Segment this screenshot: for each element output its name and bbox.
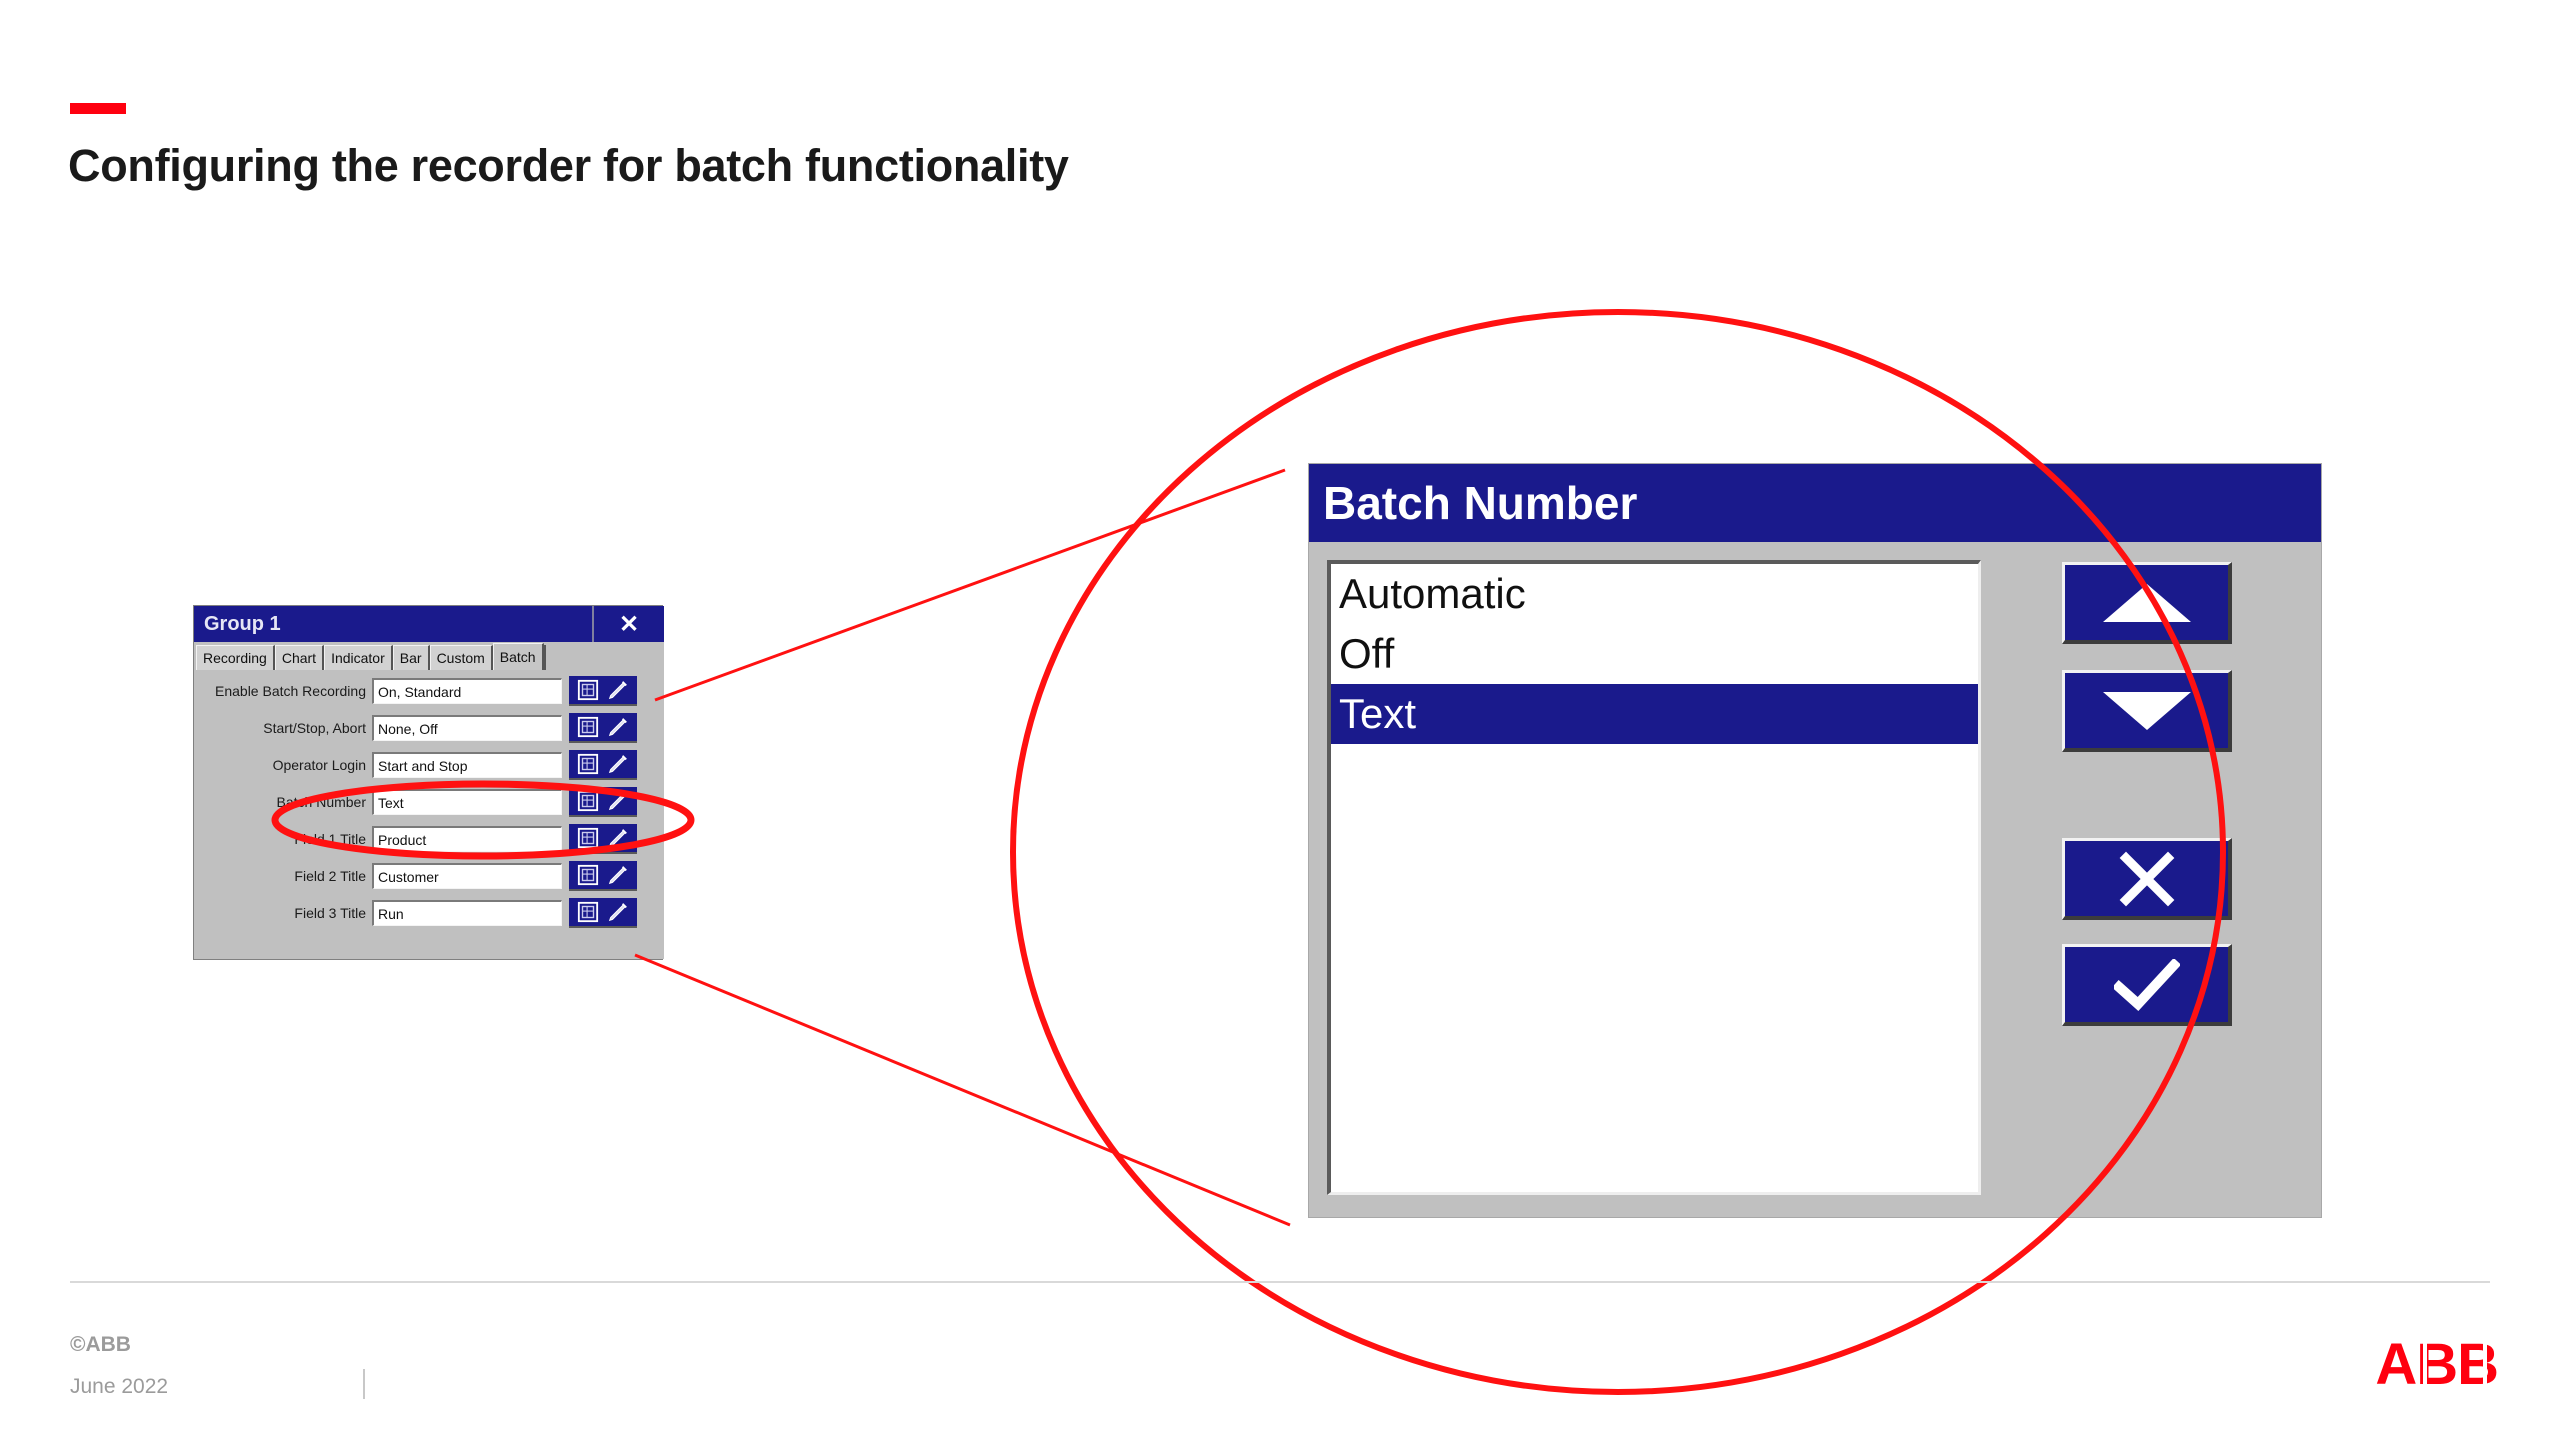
- cross-icon: [2118, 850, 2176, 908]
- pencil-icon[interactable]: [607, 790, 629, 812]
- footer-separator: [363, 1369, 365, 1399]
- row-label-batch-number: Batch Number: [200, 794, 372, 810]
- scroll-down-button[interactable]: [2062, 670, 2232, 752]
- row-actions: [569, 824, 637, 854]
- callout-line-top: [655, 470, 1285, 700]
- pencil-icon[interactable]: [607, 753, 629, 775]
- cancel-button[interactable]: [2062, 838, 2232, 920]
- scroll-up-button[interactable]: [2062, 562, 2232, 644]
- table-row-batch-number: Batch Number Text: [194, 785, 664, 819]
- confirm-button[interactable]: [2062, 944, 2232, 1026]
- recorder-tab-bar: Recording Chart Indicator Bar Custom Bat…: [194, 642, 664, 670]
- row-actions: [569, 898, 637, 928]
- table-row: Start/Stop, Abort None, Off: [194, 711, 664, 745]
- batch-option-list[interactable]: Automatic Off Text: [1327, 560, 1981, 1195]
- accent-dash: [70, 103, 126, 114]
- row-label-field-2-title: Field 2 Title: [200, 868, 372, 884]
- footer-copyright: ©ABB: [70, 1333, 131, 1357]
- batch-dialog-body: Automatic Off Text: [1309, 542, 2321, 1217]
- callout-line-bottom: [635, 955, 1290, 1225]
- abb-logo-text: ABB: [2375, 1332, 2498, 1397]
- row-actions: [569, 861, 637, 891]
- tab-bar[interactable]: Bar: [393, 645, 430, 670]
- row-value-field-2-title[interactable]: Customer: [372, 863, 562, 889]
- recorder-settings-list: Enable Batch Recording On, Standard Star…: [194, 670, 664, 959]
- row-label-field-3-title: Field 3 Title: [200, 905, 372, 921]
- tab-indicator[interactable]: Indicator: [324, 645, 393, 670]
- footer-divider: [70, 1281, 2490, 1283]
- recorder-titlebar: Group 1 ✕: [194, 606, 664, 642]
- row-actions: [569, 713, 637, 743]
- row-label-field-1-title: Field 1 Title: [200, 831, 372, 847]
- list-icon[interactable]: [577, 901, 599, 923]
- list-icon[interactable]: [577, 716, 599, 738]
- pencil-icon[interactable]: [607, 827, 629, 849]
- list-item-automatic[interactable]: Automatic: [1331, 564, 1978, 624]
- row-actions: [569, 750, 637, 780]
- check-icon: [2114, 959, 2180, 1011]
- batch-dialog-titlebar: Batch Number: [1309, 464, 2321, 542]
- recorder-title: Group 1: [194, 606, 592, 642]
- list-icon[interactable]: [577, 827, 599, 849]
- table-row: Field 1 Title Product: [194, 822, 664, 856]
- triangle-down-icon: [2101, 688, 2193, 734]
- row-label-start-stop-abort: Start/Stop, Abort: [200, 720, 372, 736]
- close-icon[interactable]: ✕: [592, 606, 664, 642]
- list-icon[interactable]: [577, 864, 599, 886]
- page-title: Configuring the recorder for batch funct…: [68, 140, 1069, 192]
- row-value-operator-login[interactable]: Start and Stop: [372, 752, 562, 778]
- row-label-operator-login: Operator Login: [200, 757, 372, 773]
- tab-custom[interactable]: Custom: [430, 645, 493, 670]
- row-label-enable-batch-recording: Enable Batch Recording: [200, 683, 372, 699]
- triangle-up-icon: [2101, 580, 2193, 626]
- pencil-icon[interactable]: [607, 679, 629, 701]
- tab-batch[interactable]: Batch: [493, 643, 544, 670]
- tab-chart[interactable]: Chart: [275, 645, 324, 670]
- pencil-icon[interactable]: [607, 864, 629, 886]
- batch-dialog-buttons: [1997, 560, 2297, 1195]
- pencil-icon[interactable]: [607, 716, 629, 738]
- row-value-batch-number[interactable]: Text: [372, 789, 562, 815]
- list-item-off[interactable]: Off: [1331, 624, 1978, 684]
- table-row: Enable Batch Recording On, Standard: [194, 674, 664, 708]
- row-value-start-stop-abort[interactable]: None, Off: [372, 715, 562, 741]
- recorder-config-dialog: Group 1 ✕ Recording Chart Indicator Bar …: [193, 605, 663, 960]
- abb-logo: ABB: [2375, 1336, 2498, 1394]
- list-icon[interactable]: [577, 679, 599, 701]
- row-value-field-1-title[interactable]: Product: [372, 826, 562, 852]
- row-actions: [569, 787, 637, 817]
- pencil-icon[interactable]: [607, 901, 629, 923]
- row-value-enable-batch-recording[interactable]: On, Standard: [372, 678, 562, 704]
- table-row: Operator Login Start and Stop: [194, 748, 664, 782]
- batch-number-dialog: Batch Number Automatic Off Text: [1308, 463, 2322, 1218]
- table-row: Field 3 Title Run: [194, 896, 664, 930]
- table-row: Field 2 Title Customer: [194, 859, 664, 893]
- list-icon[interactable]: [577, 753, 599, 775]
- batch-dialog-title: Batch Number: [1309, 464, 2321, 542]
- list-icon[interactable]: [577, 790, 599, 812]
- row-value-field-3-title[interactable]: Run: [372, 900, 562, 926]
- tab-recording[interactable]: Recording: [196, 645, 275, 670]
- footer-date: June 2022: [70, 1375, 168, 1399]
- list-item-text[interactable]: Text: [1331, 684, 1978, 744]
- tab-filler: [544, 645, 664, 670]
- row-actions: [569, 676, 637, 706]
